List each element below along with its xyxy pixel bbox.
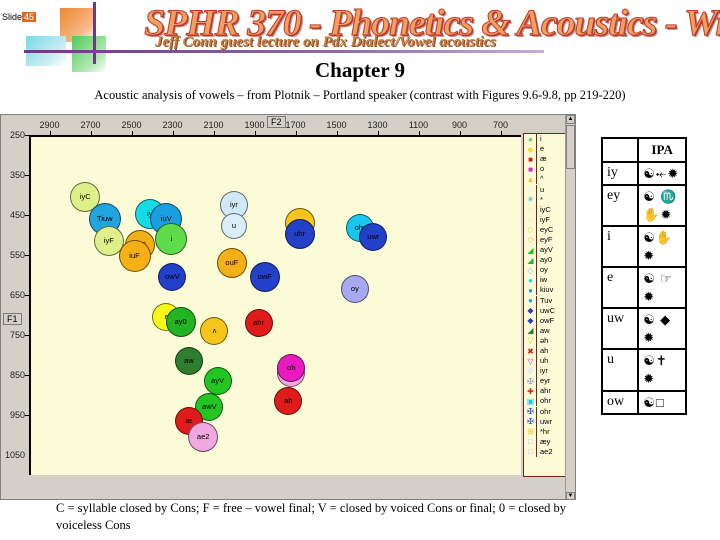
legend-row[interactable]: ◇eyF xyxy=(524,235,570,245)
figure-caption: C = syllable closed by Cons; F = free – … xyxy=(56,500,596,534)
legend-row[interactable]: ●i xyxy=(524,134,570,144)
legend-marker-icon: ✠ xyxy=(525,367,536,376)
legend-row[interactable]: ○iyF xyxy=(524,215,570,225)
legend-marker-icon: ✚ xyxy=(525,387,536,396)
vowel-bubble-label: owV xyxy=(165,273,180,281)
legend-row[interactable]: ▲^ xyxy=(524,174,570,184)
decor-vertical-rule xyxy=(93,2,96,64)
vowel-bubble-label: iuV xyxy=(161,215,172,223)
x-tick-mark xyxy=(214,131,215,136)
ipa-table-row: ey☯ ♏ ✋✹ xyxy=(602,185,686,226)
legend-row[interactable]: ▣ohr xyxy=(524,396,570,406)
vowel-bubble[interactable]: uhr xyxy=(285,219,315,249)
ipa-table-row: u☯✝ ✹ xyxy=(602,349,686,390)
x-tick-label: 1700 xyxy=(285,120,305,130)
scrollbar-thumb[interactable] xyxy=(566,125,575,169)
y-tick-mark xyxy=(25,135,29,136)
y-tick-mark xyxy=(25,295,29,296)
legend-row[interactable]: ◆uwC xyxy=(524,306,570,316)
legend-marker-icon: ○ xyxy=(525,205,536,214)
legend-row[interactable]: ◇eyC xyxy=(524,225,570,235)
legend-row[interactable]: ▽uh xyxy=(524,356,570,366)
legend-row[interactable]: ◆e xyxy=(524,144,570,154)
ipa-row-key: e xyxy=(602,267,638,308)
legend-marker-icon: □ xyxy=(525,447,536,456)
ipa-table: IPAiy☯⤝✹ey☯ ♏ ✋✹i☯✋ ✹e☯ ☞✹uw☯ ◆ ✹u☯✝ ✹ow… xyxy=(601,137,687,415)
ipa-header-label: IPA xyxy=(638,138,686,162)
ipa-row-glyphs: ☯ ☞✹ xyxy=(638,267,686,308)
ipa-row-glyphs: ☯⤝✹ xyxy=(638,162,686,186)
vowel-bubble-label: ae2 xyxy=(197,433,210,441)
x-tick-mark xyxy=(173,131,174,136)
chart-legend[interactable]: ●i◆e■æ■o▲^○u✳*○iyC○iyF◇eyC◇eyF◢ayV◢ay0◇o… xyxy=(523,133,571,477)
vowel-bubble[interactable]: ahr xyxy=(245,309,273,337)
vowel-bubble[interactable]: i xyxy=(155,223,187,255)
vowel-bubble-label: iuF xyxy=(129,252,139,260)
legend-marker-icon: ○ xyxy=(525,185,536,194)
legend-row[interactable]: ✠uwr xyxy=(524,417,570,427)
vowel-bubble-label: Tiuw xyxy=(97,215,113,223)
ipa-table-row: uw☯ ◆ ✹ xyxy=(602,308,686,349)
vowel-bubble-label: oh xyxy=(287,364,295,372)
legend-marker-icon: ◆ xyxy=(525,145,536,154)
ipa-row-key: u xyxy=(602,349,638,390)
scroll-down-button[interactable]: ▼ xyxy=(566,492,575,500)
legend-scrollbar[interactable]: ▲ ▼ xyxy=(565,115,575,500)
ipa-table-row: ow☯□ xyxy=(602,391,686,415)
vowel-bubble[interactable]: ayV xyxy=(204,367,232,395)
legend-row[interactable]: □æy xyxy=(524,437,570,447)
x-tick-label: 1300 xyxy=(367,120,387,130)
legend-marker-icon: ■ xyxy=(525,155,536,164)
x-tick-label: 2500 xyxy=(121,120,141,130)
vowel-bubble[interactable]: ay0 xyxy=(166,307,196,337)
x-tick-mark xyxy=(337,131,338,136)
vowel-bubble[interactable]: ʌ xyxy=(200,317,228,345)
legend-row[interactable]: ■o xyxy=(524,164,570,174)
slide-header: Slide45 SPHR 370 - Phonetics & Acoustics… xyxy=(0,0,720,62)
ipa-row-key: ow xyxy=(602,391,638,415)
plotnik-chart-object[interactable]: F2 F1 iyCTiuwiyFiyiuViayCiuFiyruouFowF*h… xyxy=(0,114,576,500)
y-tick-mark xyxy=(25,375,29,376)
wordart-subtitle: Jeff Conn guest lecture on Pdx Dialect/V… xyxy=(155,34,625,54)
vowel-bubble-label: owF xyxy=(258,273,272,281)
ipa-table-row: e☯ ☞✹ xyxy=(602,267,686,308)
vowel-bubble[interactable]: uwr xyxy=(359,223,387,251)
vowel-bubble[interactable]: oy xyxy=(341,275,369,303)
vowel-bubble-label: ayV xyxy=(211,377,224,385)
legend-marker-icon: ▽ xyxy=(525,336,536,345)
x-tick-mark xyxy=(501,131,502,136)
x-tick-label: 2700 xyxy=(80,120,100,130)
x-tick-mark xyxy=(378,131,379,136)
y-tick-mark xyxy=(25,335,29,336)
ipa-table-row: iy☯⤝✹ xyxy=(602,162,686,186)
legend-marker-icon: ▽ xyxy=(525,357,536,366)
vowel-bubble-label: aw xyxy=(184,357,194,365)
slide-number: 45 xyxy=(22,12,36,22)
legend-marker-icon: ✳ xyxy=(525,195,536,204)
legend-row[interactable]: ◆owF xyxy=(524,316,570,326)
y-tick-mark xyxy=(25,215,29,216)
x-tick-mark xyxy=(91,131,92,136)
x-tick-label: 1500 xyxy=(326,120,346,130)
vowel-bubble-label: uwr xyxy=(367,233,379,241)
slide-label: Slide xyxy=(2,12,22,22)
ipa-table-row: i☯✋ ✹ xyxy=(602,226,686,267)
legend-marker-icon: ⊞ xyxy=(525,427,536,436)
legend-row[interactable]: ▽əh xyxy=(524,336,570,346)
legend-row[interactable]: ◢ay0 xyxy=(524,255,570,265)
ipa-row-key: uw xyxy=(602,308,638,349)
vowel-bubble[interactable]: ae2 xyxy=(188,422,218,452)
x-tick-mark xyxy=(132,131,133,136)
legend-row[interactable]: ✖ah xyxy=(524,346,570,356)
legend-marker-icon: ✠ xyxy=(525,377,536,386)
vowel-bubble-label: ah xyxy=(284,397,292,405)
axis-label-f2: F2 xyxy=(267,116,286,128)
legend-marker-icon: ◇ xyxy=(525,266,536,275)
legend-row[interactable]: ✚ahr xyxy=(524,386,570,396)
x-tick-label: 700 xyxy=(493,120,508,130)
vowel-bubble-label: u xyxy=(232,222,236,230)
y-tick-label: 450 xyxy=(1,210,25,220)
legend-row[interactable]: ✳* xyxy=(524,195,570,205)
page-title: Chapter 9 xyxy=(0,58,720,83)
vowel-bubble-label: æ xyxy=(186,417,193,425)
y-tick-label: 350 xyxy=(1,170,25,180)
legend-marker-icon: □ xyxy=(525,437,536,446)
vowel-bubble-label: ouF xyxy=(225,259,238,267)
y-tick-label: 250 xyxy=(1,130,25,140)
y-tick-mark xyxy=(25,255,29,256)
y-tick-mark xyxy=(25,415,29,416)
x-tick-label: 2100 xyxy=(203,120,223,130)
ipa-row-key: i xyxy=(602,226,638,267)
legend-marker-icon: ◇ xyxy=(525,235,536,244)
legend-marker-icon: ✠ xyxy=(525,407,536,416)
x-tick-label: 900 xyxy=(452,120,467,130)
vowel-bubble-label: oy xyxy=(351,285,359,293)
legend-marker-icon: ◢ xyxy=(525,256,536,265)
vowel-bubble[interactable]: iuF xyxy=(119,240,151,272)
vowel-bubble-label: iyF xyxy=(104,237,114,245)
y-tick-label: 750 xyxy=(1,330,25,340)
x-tick-label: 1100 xyxy=(409,120,428,130)
x-tick-label: 2300 xyxy=(162,120,182,130)
legend-marker-icon: ▲ xyxy=(525,175,536,184)
y-tick-label: 850 xyxy=(1,370,25,380)
legend-marker-icon: ◆ xyxy=(525,306,536,315)
x-tick-mark xyxy=(419,131,420,136)
y-tick-label: 950 xyxy=(1,410,25,420)
vowel-bubble[interactable]: ouF xyxy=(217,248,247,278)
y-tick-label: 650 xyxy=(1,290,25,300)
legend-marker-icon: ◢ xyxy=(525,326,536,335)
x-tick-mark xyxy=(255,131,256,136)
vowel-bubble[interactable]: ah xyxy=(274,387,302,415)
vowel-bubble[interactable]: aw xyxy=(175,347,203,375)
vowel-bubble[interactable]: owV xyxy=(158,263,186,291)
vowel-bubble-label: iyr xyxy=(230,201,238,209)
legend-row[interactable]: ◢aw xyxy=(524,326,570,336)
ipa-header-blank xyxy=(602,138,638,162)
y-tick-mark xyxy=(25,175,29,176)
x-tick-mark xyxy=(50,131,51,136)
vowel-bubble-label: ʌ xyxy=(213,327,217,335)
legend-marker-icon: ◢ xyxy=(525,246,536,255)
plot-area[interactable]: iyCTiuwiyFiyiuViayCiuFiyruouFowF*hruhroh… xyxy=(29,135,521,475)
legend-row[interactable]: ✠ohr xyxy=(524,407,570,417)
slide-badge: Slide45 xyxy=(2,12,36,22)
legend-marker-icon: ■ xyxy=(525,165,536,174)
x-tick-label: 1900 xyxy=(244,120,264,130)
page-subtitle: Acoustic analysis of vowels – from Plotn… xyxy=(0,88,720,103)
vowel-bubble-label: i xyxy=(171,235,173,243)
ipa-row-key: iy xyxy=(602,162,638,186)
ipa-row-glyphs: ☯ ◆ ✹ xyxy=(638,308,686,349)
legend-row[interactable]: ⊞*hr xyxy=(524,427,570,437)
legend-row[interactable]: ○u xyxy=(524,184,570,194)
x-tick-mark xyxy=(296,131,297,136)
vowel-bubble-label: ahr xyxy=(253,319,264,327)
legend-marker-icon: ◇ xyxy=(525,225,536,234)
scroll-up-button[interactable]: ▲ xyxy=(566,115,575,124)
y-tick-label: 550 xyxy=(1,250,25,260)
vowel-bubble-label: ay0 xyxy=(175,318,187,326)
legend-row[interactable]: ✠iyr xyxy=(524,366,570,376)
vowel-bubble-label: iyC xyxy=(80,193,91,201)
legend-row[interactable]: ●kiuv xyxy=(524,285,570,295)
ipa-row-glyphs: ☯ ♏ ✋✹ xyxy=(638,185,686,226)
x-tick-label: 2900 xyxy=(39,120,59,130)
vowel-bubble-label: uhr xyxy=(294,230,305,238)
legend-marker-icon: ● xyxy=(525,135,536,144)
legend-marker-icon: ✖ xyxy=(525,347,536,356)
legend-marker-icon: ✠ xyxy=(525,417,536,426)
ipa-row-glyphs: ☯□ xyxy=(638,391,686,415)
legend-marker-icon: ● xyxy=(525,276,536,285)
ipa-row-key: ey xyxy=(602,185,638,226)
legend-marker-icon: ● xyxy=(525,296,536,305)
legend-row[interactable]: ●iw xyxy=(524,275,570,285)
vowel-bubble[interactable]: owF xyxy=(250,262,280,292)
legend-marker-icon: ○ xyxy=(525,215,536,224)
legend-row[interactable]: ✠eyr xyxy=(524,376,570,386)
legend-row[interactable]: ■æ xyxy=(524,154,570,164)
x-tick-mark xyxy=(460,131,461,136)
axis-label-f1: F1 xyxy=(3,313,22,325)
legend-row[interactable]: ◇oy xyxy=(524,265,570,275)
y-tick-label: 1050 xyxy=(1,450,25,460)
legend-row[interactable]: □ae2 xyxy=(524,447,570,457)
vowel-bubble-label: awV xyxy=(202,403,217,411)
ipa-row-glyphs: ☯✋ ✹ xyxy=(638,226,686,267)
legend-row[interactable]: ○iyC xyxy=(524,205,570,215)
legend-marker-icon: ● xyxy=(525,286,536,295)
legend-row[interactable]: ●Tuv xyxy=(524,296,570,306)
legend-row[interactable]: ◢ayV xyxy=(524,245,570,255)
legend-marker-icon: ▣ xyxy=(525,397,536,406)
ipa-row-glyphs: ☯✝ ✹ xyxy=(638,349,686,390)
vowel-bubble[interactable]: u xyxy=(221,213,247,239)
legend-marker-icon: ◆ xyxy=(525,316,536,325)
ipa-header-row: IPA xyxy=(602,138,686,162)
